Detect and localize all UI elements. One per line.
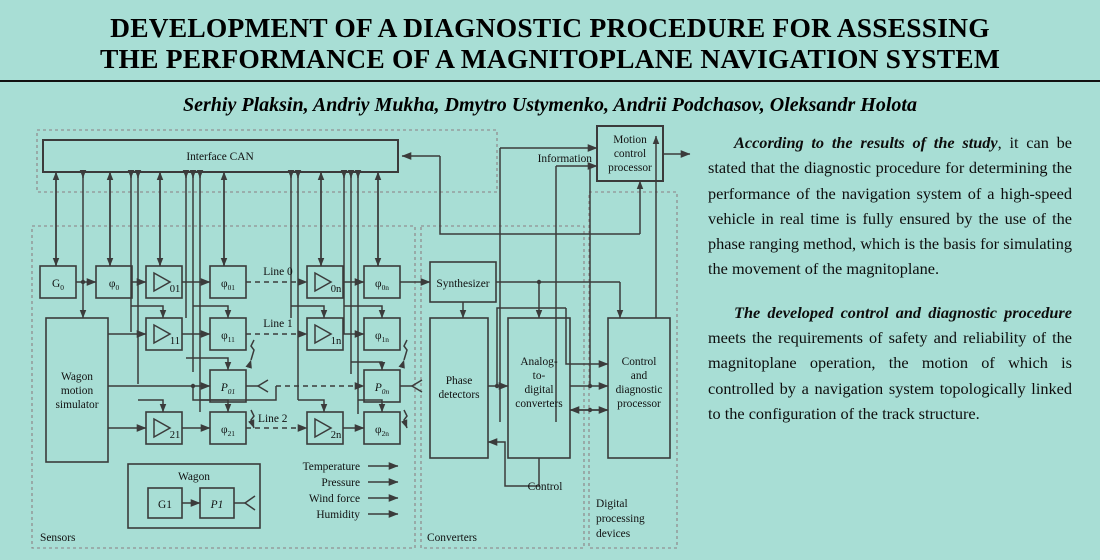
label-wagon-p1: P1 bbox=[210, 499, 224, 511]
label-wagon-sim-2: motion bbox=[61, 385, 94, 397]
label-phi-01: φ01 bbox=[221, 278, 235, 292]
block-phi-2n[interactable] bbox=[364, 412, 400, 444]
label-amp-21: 21 bbox=[170, 430, 181, 441]
label-p-0n: P0n bbox=[374, 382, 390, 396]
legend-humidity: Humidity bbox=[316, 509, 360, 521]
amp-01-triangle bbox=[154, 273, 170, 291]
legend-pressure: Pressure bbox=[321, 477, 360, 489]
label-motion-control-2: control bbox=[614, 148, 646, 160]
label-amp-1n: 1n bbox=[331, 336, 342, 347]
label-line-2: Line 2 bbox=[258, 413, 288, 425]
title-block: DEVELOPMENT OF A DIAGNOSTIC PROCEDURE FO… bbox=[0, 0, 1100, 74]
label-phi-0: φ0 bbox=[109, 278, 120, 292]
antenna-p-01 bbox=[258, 380, 268, 392]
block-phi-01[interactable] bbox=[210, 266, 246, 298]
label-line-1: Line 1 bbox=[263, 318, 293, 330]
label-motion-control-3: processor bbox=[608, 162, 652, 174]
label-amp-01: 01 bbox=[170, 284, 181, 295]
label-control: Control bbox=[528, 481, 563, 493]
block-p-01[interactable] bbox=[210, 370, 246, 402]
label-cdp-4: processor bbox=[617, 398, 661, 410]
page-title-line-2: THE PERFORMANCE OF A MAGNITOPLANE NAVIGA… bbox=[30, 43, 1070, 74]
summary-text: According to the results of the study, i… bbox=[700, 122, 1090, 560]
paragraph-1-rest: , it can be stated that the diagnostic p… bbox=[708, 133, 1072, 278]
label-generator: G0 bbox=[52, 278, 64, 292]
amp-0n-triangle bbox=[315, 273, 331, 291]
region-label-digital-1: Digital bbox=[596, 498, 628, 510]
rowP-wires bbox=[108, 358, 382, 400]
label-amp-2n: 2n bbox=[331, 430, 342, 441]
row1-wires bbox=[108, 306, 382, 334]
legend-temperature: Temperature bbox=[303, 461, 360, 473]
title-divider bbox=[0, 80, 1100, 82]
paragraph-2: The developed control and diagnostic pro… bbox=[708, 300, 1072, 426]
label-wagon-sim-3: simulator bbox=[55, 399, 98, 411]
poster-page: DEVELOPMENT OF A DIAGNOSTIC PROCEDURE FO… bbox=[0, 0, 1100, 560]
interference-symbol-line1-b bbox=[404, 340, 407, 360]
interference-symbol-line2-a bbox=[251, 410, 254, 428]
label-wagon-g1: G1 bbox=[158, 499, 172, 511]
block-phi-21[interactable] bbox=[210, 412, 246, 444]
label-information: Information bbox=[538, 153, 593, 165]
label-adc-1: Analog- bbox=[520, 356, 558, 368]
label-cdp-1: Control bbox=[622, 356, 657, 368]
amp-21-triangle bbox=[154, 419, 170, 437]
paragraph-1: According to the results of the study, i… bbox=[708, 130, 1072, 282]
label-wagon: Wagon bbox=[178, 471, 210, 483]
label-adc-4: converters bbox=[515, 398, 563, 410]
label-adc-3: digital bbox=[524, 384, 553, 396]
interference-symbol-line1-a bbox=[251, 340, 254, 360]
block-phase-detectors[interactable] bbox=[430, 318, 488, 458]
block-diagram: Sensors Converters Digital processing de… bbox=[0, 122, 700, 560]
label-amp-11: 11 bbox=[170, 336, 180, 347]
amp-11-triangle bbox=[154, 325, 170, 343]
region-label-digital-3: devices bbox=[596, 528, 631, 540]
label-phase-detectors-2: detectors bbox=[438, 389, 480, 401]
label-phi-1n: φ1n bbox=[375, 330, 389, 344]
row2-wires bbox=[108, 400, 382, 428]
block-phi-11[interactable] bbox=[210, 318, 246, 350]
region-converters bbox=[421, 226, 584, 548]
paragraph-2-lead: The developed control and diagnostic pro… bbox=[734, 303, 1072, 322]
antenna-p1 bbox=[245, 496, 255, 510]
block-phi-1n[interactable] bbox=[364, 318, 400, 350]
author-list: Serhiy Plaksin, Andriy Mukha, Dmytro Ust… bbox=[0, 93, 1100, 117]
label-cdp-2: and bbox=[631, 370, 648, 382]
block-phi-0n[interactable] bbox=[364, 266, 400, 298]
label-phi-2n: φ2n bbox=[375, 424, 389, 438]
label-line-0: Line 0 bbox=[263, 266, 293, 278]
can-bus-arrows bbox=[56, 172, 378, 414]
interference-symbol-line2-b bbox=[404, 410, 407, 428]
region-label-digital-2: processing bbox=[596, 513, 645, 525]
label-phi-21: φ21 bbox=[221, 424, 235, 438]
amp-1n-triangle bbox=[315, 325, 331, 343]
label-synthesizer: Synthesizer bbox=[436, 278, 489, 290]
block-p-0n[interactable] bbox=[364, 370, 400, 402]
label-wagon-sim-1: Wagon bbox=[61, 371, 93, 383]
label-phi-11: φ11 bbox=[221, 330, 235, 344]
amp-2n-triangle bbox=[315, 419, 331, 437]
region-label-sensors: Sensors bbox=[40, 532, 76, 544]
label-phi-0n: φ0n bbox=[375, 278, 389, 292]
label-phase-detectors-1: Phase bbox=[446, 375, 473, 387]
label-cdp-3: diagnostic bbox=[616, 384, 663, 396]
label-interface-can: Interface CAN bbox=[186, 151, 253, 163]
legend-wind-force: Wind force bbox=[309, 493, 360, 505]
paragraph-1-lead: According to the results of the study bbox=[734, 133, 998, 152]
label-amp-0n: 0n bbox=[331, 284, 342, 295]
block-diagram-svg: Sensors Converters Digital processing de… bbox=[0, 122, 700, 560]
sensor-legend: Temperature Pressure Wind force Humidity bbox=[303, 461, 398, 521]
paragraph-2-rest: meets the requirements of safety and rel… bbox=[708, 328, 1072, 423]
label-motion-control-1: Motion bbox=[613, 134, 647, 146]
page-title-line-1: DEVELOPMENT OF A DIAGNOSTIC PROCEDURE FO… bbox=[30, 12, 1070, 43]
content-area: Sensors Converters Digital processing de… bbox=[0, 122, 1100, 560]
converter-wires: Control bbox=[463, 136, 656, 493]
region-label-converters: Converters bbox=[427, 532, 478, 544]
label-adc-2: to- bbox=[533, 370, 546, 382]
label-p-01: P01 bbox=[220, 382, 235, 396]
